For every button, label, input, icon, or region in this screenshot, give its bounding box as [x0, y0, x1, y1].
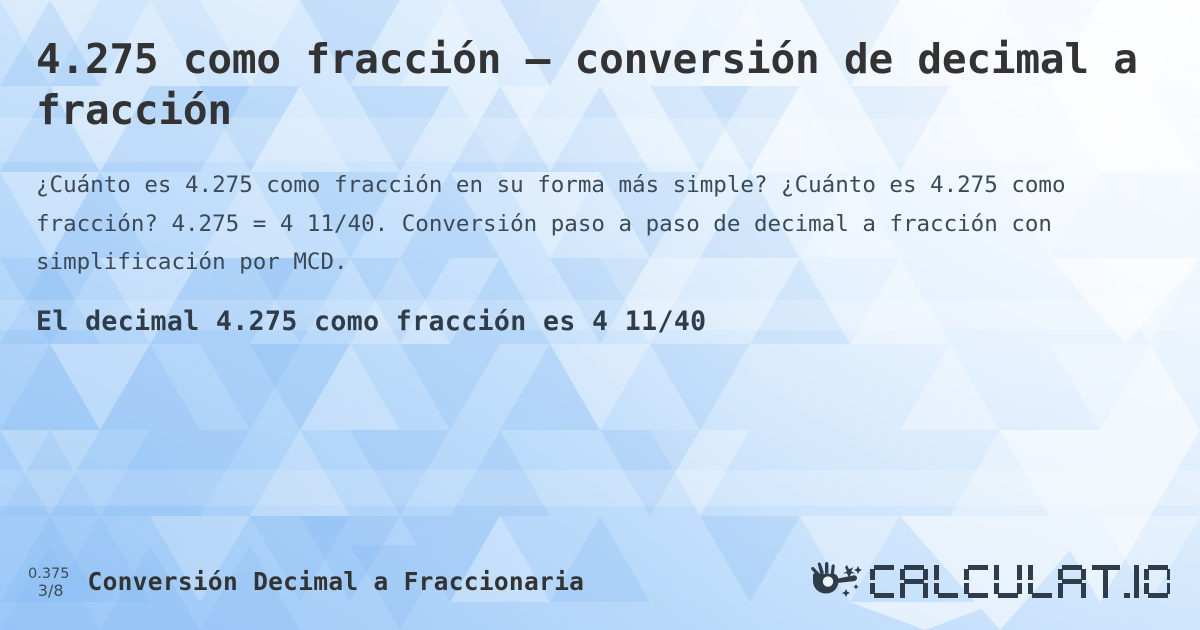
page-title: 4.275 como fracción – conversión de deci…	[36, 34, 1156, 136]
magic-wand-hand-icon	[806, 561, 864, 603]
brand-wordmark: CALCULAT.IO	[870, 561, 1170, 603]
brand-logo[interactable]: CALCULAT.IO	[806, 561, 1178, 603]
fraction-icon-decimal: 0.375	[28, 567, 70, 583]
card-footer: 0.375 3/8 Conversión Decimal a Fracciona…	[0, 534, 1200, 630]
answer-statement: El decimal 4.275 como fracción es 4 11/4…	[36, 304, 1164, 340]
social-share-card: 4.275 como fracción – conversión de deci…	[0, 0, 1200, 630]
fraction-icon-fraction: 3/8	[38, 582, 70, 599]
page-description: ¿Cuánto es 4.275 como fracción en su for…	[36, 166, 1164, 282]
footer-left-group: 0.375 3/8 Conversión Decimal a Fracciona…	[28, 565, 584, 600]
decimal-to-fraction-icon: 0.375 3/8	[28, 565, 70, 600]
footer-section-title: Conversión Decimal a Fraccionaria	[88, 567, 585, 596]
